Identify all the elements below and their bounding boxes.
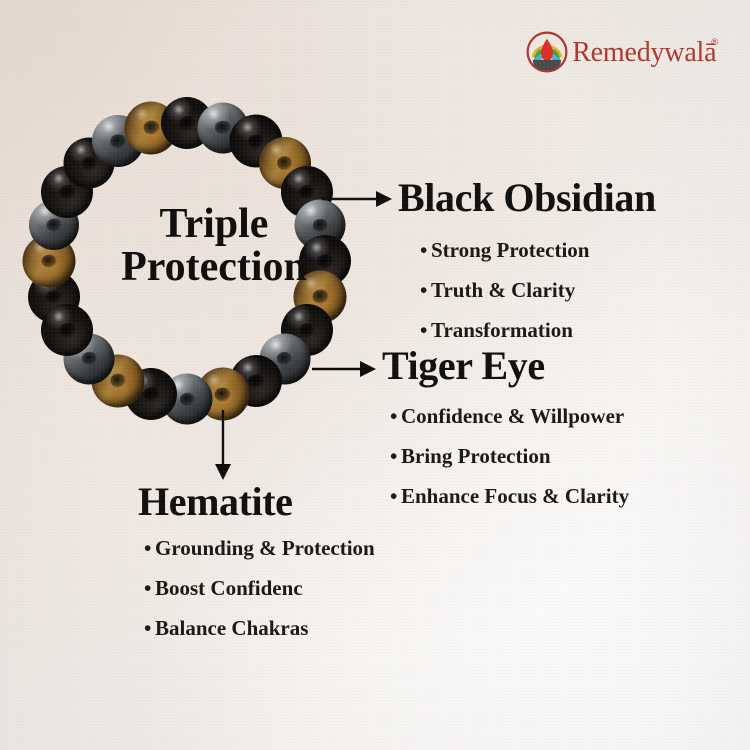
benefit-text: Enhance Focus & Clarity [401,484,629,508]
bullet-icon: • [420,320,431,341]
callout-tiger-eye: Tiger Eye •Confidence & Willpower •Bring… [382,346,629,526]
brand-name: Remedywalā [572,39,716,67]
benefit-text: Boost Confidenc [155,576,303,600]
benefit-text: Confidence & Willpower [401,404,624,428]
list-item: •Truth & Clarity [420,280,656,301]
bullet-icon: • [390,486,401,507]
list-item: •Confidence & Willpower [390,406,629,427]
benefit-text: Balance Chakras [155,616,308,640]
callout-title-hematite: Hematite [138,482,375,522]
callout-hematite: Hematite •Grounding & Protection •Boost … [138,482,375,658]
benefit-text: Truth & Clarity [431,278,575,302]
list-item: •Transformation [420,320,656,341]
page-title: Triple Protection [104,203,324,289]
benefit-list-tiger-eye: •Confidence & Willpower •Bring Protectio… [390,406,629,507]
page-title-line2: Protection [104,246,324,289]
list-item: •Bring Protection [390,446,629,467]
lotus-droplet-icon [525,30,569,74]
benefit-text: Grounding & Protection [155,536,375,560]
bullet-icon: • [144,538,155,559]
infographic-poster: Remedywalā ® Triple Protection Black Obs… [0,0,750,750]
arrow-to-black-obsidian [322,186,394,212]
callout-title-tiger-eye: Tiger Eye [382,346,629,386]
arrow-to-hematite [206,410,240,482]
callout-title-black-obsidian: Black Obsidian [398,178,656,218]
registered-mark: ® [711,37,718,47]
bullet-icon: • [420,280,431,301]
list-item: •Balance Chakras [144,618,375,639]
benefit-list-black-obsidian: •Strong Protection •Truth & Clarity •Tra… [420,240,656,341]
bullet-icon: • [390,446,401,467]
bead-obsidian [41,304,93,356]
bullet-icon: • [144,578,155,599]
bullet-icon: • [144,618,155,639]
list-item: •Boost Confidenc [144,578,375,599]
benefit-text: Strong Protection [431,238,589,262]
brand-logo: Remedywalā ® [525,30,726,74]
list-item: •Strong Protection [420,240,656,261]
bullet-icon: • [390,406,401,427]
list-item: •Enhance Focus & Clarity [390,486,629,507]
bullet-icon: • [420,240,431,261]
page-title-line1: Triple [160,201,269,247]
benefit-list-hematite: •Grounding & Protection •Boost Confidenc… [144,538,375,639]
callout-black-obsidian: Black Obsidian •Strong Protection •Truth… [398,178,656,360]
benefit-text: Bring Protection [401,444,551,468]
list-item: •Grounding & Protection [144,538,375,559]
benefit-text: Transformation [431,318,573,342]
arrow-to-tiger-eye [312,356,378,382]
